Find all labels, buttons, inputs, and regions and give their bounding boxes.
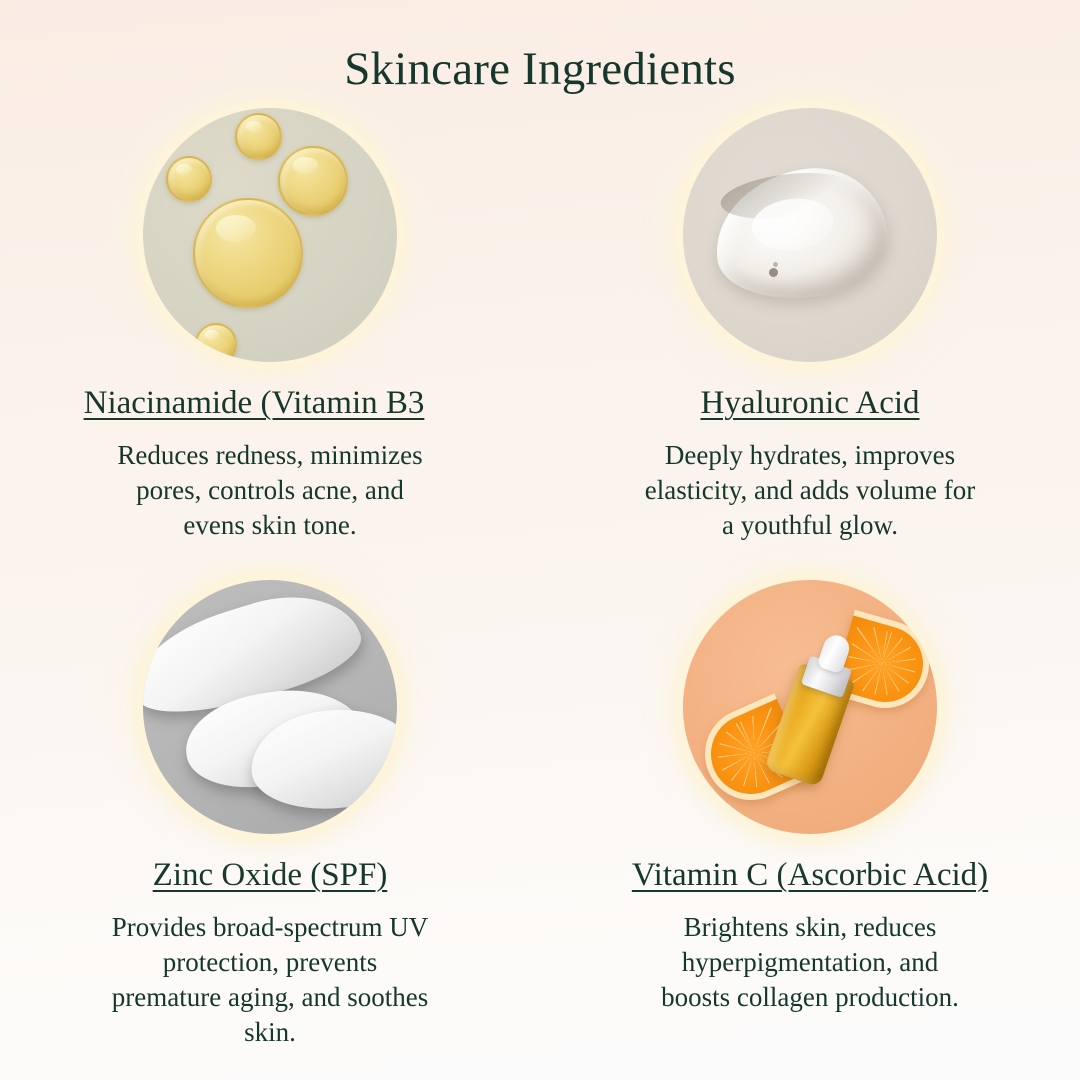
white-cream-swatches-photo (143, 580, 397, 834)
oil-droplet-small (166, 156, 212, 202)
oil-droplet-large (193, 198, 303, 308)
ingredient-title: Zinc Oxide (SPF) (153, 856, 388, 895)
hyaluronic-gel-drop-photo (683, 108, 937, 362)
ingredient-card-hyaluronic-acid: Hyaluronic Acid Deeply hydrates, improve… (540, 108, 1080, 580)
ingredient-card-zinc-oxide: Zinc Oxide (SPF) Provides broad-spectrum… (0, 580, 540, 1080)
oil-droplet-medium (278, 146, 348, 216)
ingredient-card-niacinamide: Niacinamide (Vitamin B3 Reduces redness,… (0, 108, 540, 580)
ingredient-card-vitamin-c: Vitamin C (Ascorbic Acid) Brightens skin… (540, 580, 1080, 1080)
ingredient-title: Hyaluronic Acid (700, 384, 919, 423)
vitamin-c-serum-orange-photo (683, 580, 937, 834)
ingredient-description: Brightens skin, reduces hyperpigmentatio… (661, 910, 959, 1015)
gel-droplet-shape (708, 160, 894, 308)
oil-droplets-photo (143, 108, 397, 362)
ingredient-description: Deeply hydrates, improves elasticity, an… (645, 438, 975, 543)
ingredient-description: Provides broad-spectrum UV protection, p… (112, 910, 428, 1050)
ingredient-title: Niacinamide (Vitamin B3 (84, 384, 425, 423)
ingredient-title: Vitamin C (Ascorbic Acid) (632, 856, 988, 895)
oil-droplet-top (235, 113, 282, 160)
page-title: Skincare Ingredients (0, 0, 1080, 96)
ingredient-description: Reduces redness, minimizes pores, contro… (117, 438, 422, 543)
ingredient-grid: Niacinamide (Vitamin B3 Reduces redness,… (0, 108, 1080, 1080)
oil-droplet-bottom (195, 323, 237, 362)
gel-air-bubble (769, 268, 778, 277)
